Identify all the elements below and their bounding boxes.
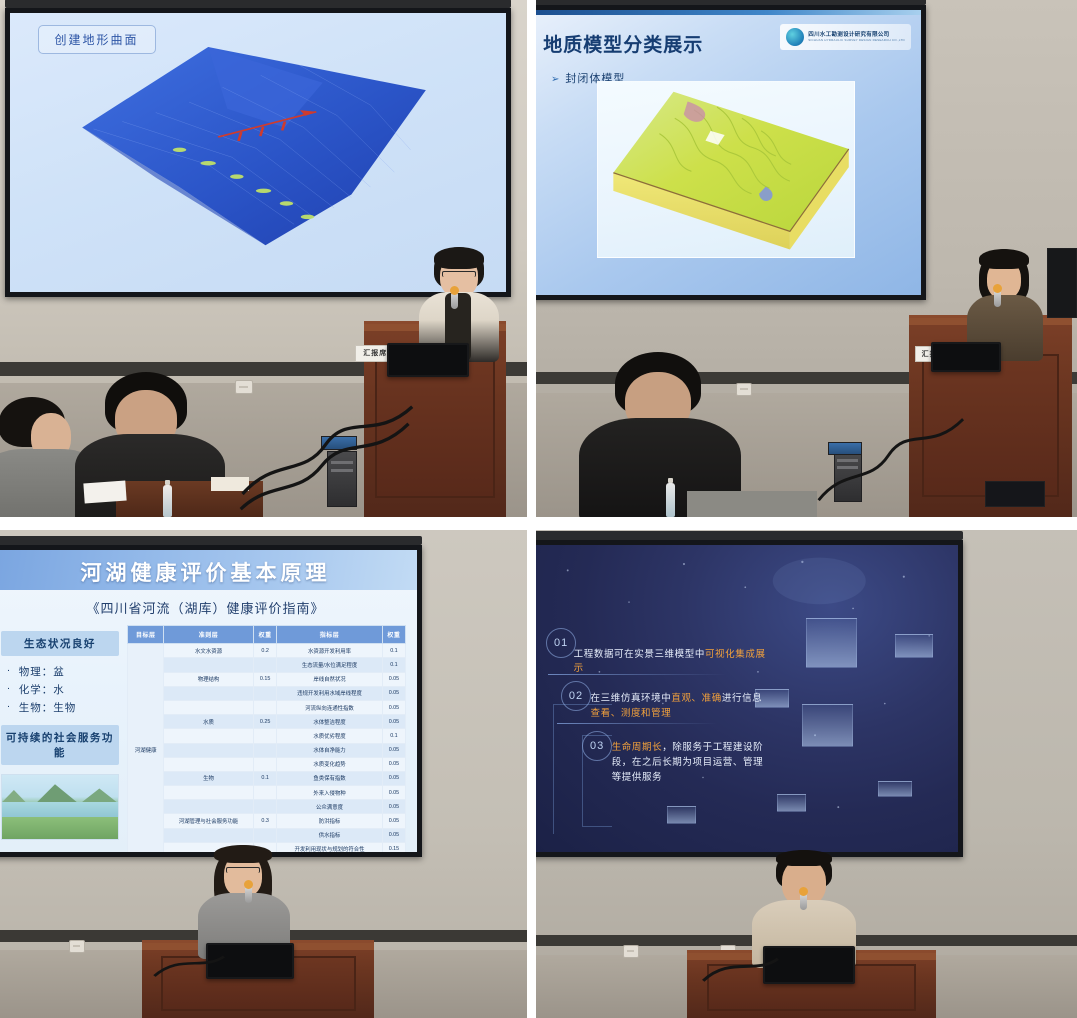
bullet-label: 生物：生物 (19, 700, 77, 715)
caret-right-icon: ➢ (551, 74, 560, 85)
cell-criterion: 水质 (163, 715, 253, 729)
laptop-screen (389, 345, 467, 375)
cell-indicator: 水质变化趋势 (277, 757, 383, 771)
step-text-03: 生命周期长，除服务于工程建设阶段，在之后长期为项目运营、管理等提供服务 (612, 741, 764, 785)
screen-roller-bar (536, 0, 926, 5)
water-bottle (666, 483, 675, 517)
projection-screen: 01 工程数据可在实景三维模型中可视化集成展示 02 在三维仿真环境中直观、准确… (536, 540, 963, 857)
company-logo-mark-icon (786, 28, 804, 46)
health-table-body: 河湖健康水文水资源0.2水资源开发利用率0.1生态流量/水位满足程度0.1物理结… (128, 644, 406, 852)
presenter-glasses-icon (442, 271, 476, 277)
cell-indicator-weight: 0.05 (382, 814, 405, 828)
model-canvas (597, 81, 855, 258)
lake-landscape-photo (1, 774, 119, 840)
screen-roller-bar (0, 536, 422, 545)
presenter-glasses-icon (226, 867, 260, 873)
cell-criterion (163, 757, 253, 771)
wall-outlet-icon (623, 945, 639, 958)
cell-indicator-weight: 0.15 (382, 842, 405, 852)
cell-indicator-weight: 0.1 (382, 658, 405, 672)
panel-top-left: 创建地形曲面 (0, 0, 536, 530)
cell-criterion-weight (254, 757, 277, 771)
cell-criterion-weight: 0.1 (254, 771, 277, 785)
company-logo-text: 四川水工勘测设计研究有限公司 SICHUAN HYDRAULIC SURVEY … (808, 33, 905, 42)
closed-body-3d-model (598, 82, 854, 257)
photo-geology-model-presentation: 地质模型分类展示 ➢封闭体模型 四川水工勘测设计研究有限公司 SICHUAN H… (536, 0, 1077, 517)
list-item: ·化学：水 (7, 682, 119, 697)
cell-indicator-weight: 0.05 (382, 786, 405, 800)
table-row: 生态流量/水位满足程度0.1 (128, 658, 406, 672)
table-row: 水质优劣程度0.1 (128, 729, 406, 743)
chip-ecological-status: 生态状况良好 (1, 631, 119, 656)
bullet-label: 物理：盆 (19, 664, 65, 679)
monitor-on-desk (985, 481, 1045, 507)
step-number-03: 03 (582, 731, 612, 761)
cell-indicator: 水资源开发利用率 (277, 644, 383, 658)
presenter-fringe (776, 850, 832, 866)
table-row: 河湖管理与社会服务功能0.3防洪指标0.05 (128, 814, 406, 828)
presenter-laptop (387, 343, 469, 377)
cell-criterion-weight (254, 743, 277, 757)
presenter-laptop (931, 342, 1001, 372)
cell-indicator: 水体整洁程度 (277, 715, 383, 729)
microphone-icon (994, 289, 1001, 307)
table-row: 水质0.25水体整洁程度0.05 (128, 715, 406, 729)
cell-criterion-weight (254, 686, 277, 700)
table-row: 水质变化趋势0.05 (128, 757, 406, 771)
cell-criterion (163, 729, 253, 743)
cell-criterion: 物理结构 (163, 672, 253, 686)
wall-outlet-icon (736, 383, 752, 396)
microphone-icon (800, 892, 807, 910)
table-row: 水体自净能力0.05 (128, 743, 406, 757)
cell-indicator-weight: 0.1 (382, 644, 405, 658)
cell-indicator-weight: 0.05 (382, 771, 405, 785)
projection-screen: 地质模型分类展示 ➢封闭体模型 四川水工勘测设计研究有限公司 SICHUAN H… (536, 5, 926, 300)
floating-card (802, 704, 853, 747)
cell-criterion (163, 686, 253, 700)
photo-terrain-surface-presentation: 创建地形曲面 (0, 0, 527, 517)
step-02-highlight2: 查看、测度和管理 (591, 708, 672, 719)
cell-criterion: 生物 (163, 771, 253, 785)
podium-cables (687, 950, 784, 994)
col-indicator: 指标层 (277, 626, 383, 644)
step-02-plain2: 进行信息 (722, 693, 762, 704)
company-name-en: SICHUAN HYDRAULIC SURVEY DESIGN RESEARCH… (808, 39, 905, 42)
cell-indicator: 开发利用现状与规划的符合性 (277, 842, 383, 852)
cell-criterion-weight: 0.2 (254, 644, 277, 658)
cell-indicator: 生态流量/水位满足程度 (277, 658, 383, 672)
cell-criterion (163, 786, 253, 800)
cell-indicator: 鱼类保有指数 (277, 771, 383, 785)
panel-top-right: 地质模型分类展示 ➢封闭体模型 四川水工勘测设计研究有限公司 SICHUAN H… (536, 0, 1077, 530)
step-number-01: 01 (546, 628, 576, 658)
step-03-highlight: 生命周期长 (612, 742, 663, 753)
bullet-dot-icon: · (7, 700, 11, 715)
table-row: 违规开发利用水域岸线程度0.05 (128, 686, 406, 700)
table-row: 公众满意度0.05 (128, 800, 406, 814)
list-item: ·物理：盆 (7, 664, 119, 679)
cell-indicator-weight: 0.05 (382, 743, 405, 757)
table-row: 物理结构0.15岸线自然状况0.05 (128, 672, 406, 686)
wall-outlet-icon (69, 940, 85, 953)
cell-criterion-weight: 0.3 (254, 814, 277, 828)
presenter-fringe (434, 247, 484, 269)
presenter-person (963, 249, 1045, 357)
screen-roller-bar (536, 531, 963, 540)
cell-indicator-weight: 0.05 (382, 715, 405, 729)
water-bottle (163, 485, 172, 517)
cell-indicator-weight: 0.05 (382, 700, 405, 714)
slide-header-rule (536, 10, 921, 15)
screen-surface: 01 工程数据可在实景三维模型中可视化集成展示 02 在三维仿真环境中直观、准确… (536, 545, 958, 852)
photo-bim-value-presentation: 01 工程数据可在实景三维模型中可视化集成展示 02 在三维仿真环境中直观、准确… (536, 530, 1077, 1018)
cell-indicator: 岸线自然状况 (277, 672, 383, 686)
table-row: 外来入侵物种0.05 (128, 786, 406, 800)
left-bullet-list: ·物理：盆 ·化学：水 ·生物：生物 (7, 664, 119, 715)
screen-roller-bar (5, 0, 511, 8)
cell-criterion (163, 700, 253, 714)
cell-indicator: 水体自净能力 (277, 743, 383, 757)
step-text-01: 工程数据可在实景三维模型中可视化集成展示 (574, 648, 768, 677)
col-goal: 目标层 (128, 626, 164, 644)
list-item: ·生物：生物 (7, 700, 119, 715)
slide-bim-value: 01 工程数据可在实景三维模型中可视化集成展示 02 在三维仿真环境中直观、准确… (536, 545, 958, 852)
presenter-fringe (214, 845, 272, 863)
presenter-person (200, 845, 286, 955)
cell-indicator-weight: 0.05 (382, 686, 405, 700)
table-row: 河流纵向连通性指数0.05 (128, 700, 406, 714)
cell-indicator: 公众满意度 (277, 800, 383, 814)
step-01-plain: 工程数据可在实景三维模型中 (574, 649, 705, 660)
cell-indicator-weight: 0.05 (382, 828, 405, 842)
photo-collage-grid: 创建地形曲面 (0, 0, 1077, 1018)
cell-indicator: 河流纵向连通性指数 (277, 700, 383, 714)
cell-indicator: 违规开发利用水域岸线程度 (277, 686, 383, 700)
cell-indicator: 供水指标 (277, 828, 383, 842)
slide-river-health: 河湖健康评价基本原理 《四川省河流（湖库）健康评价指南》 生态状况良好 ·物理：… (0, 550, 417, 852)
floor-cables (817, 414, 979, 517)
bullet-dot-icon: · (7, 682, 11, 697)
foreground-trees (2, 817, 118, 839)
presenter-fringe (979, 249, 1029, 269)
floating-card (878, 781, 912, 796)
slide-left-column: 生态状况良好 ·物理：盆 ·化学：水 ·生物：生物 可持续的社会服务功能 (1, 631, 119, 840)
microphone-icon (451, 291, 458, 309)
divider-rule (548, 674, 726, 675)
cell-criterion: 河湖管理与社会服务功能 (163, 814, 253, 828)
cell-indicator: 防洪指标 (277, 814, 383, 828)
cell-criterion-weight (254, 729, 277, 743)
presenter-person (417, 247, 501, 357)
cell-criterion (163, 658, 253, 672)
floor-cables (237, 403, 421, 517)
side-monitor (1047, 248, 1077, 318)
cell-indicator-weight: 0.05 (382, 672, 405, 686)
floating-card (895, 634, 933, 659)
cell-goal: 河湖健康 (128, 644, 164, 852)
cell-criterion (163, 800, 253, 814)
cell-criterion-weight (254, 786, 277, 800)
cell-criterion-weight: 0.15 (254, 672, 277, 686)
red-section-line-annotation (214, 102, 323, 147)
slide-subtitle: 《四川省河流（湖库）健康评价指南》 (0, 598, 417, 617)
floating-card (777, 794, 807, 812)
cell-criterion (163, 828, 253, 842)
col-criterion-weight: 权重 (254, 626, 277, 644)
floating-card (667, 806, 697, 824)
bullet-label: 化学：水 (19, 682, 65, 697)
cell-indicator: 水质优劣程度 (277, 729, 383, 743)
step-02-plain: 在三维仿真环境中 (591, 693, 672, 704)
photo-river-lake-health-presentation: 河湖健康评价基本原理 《四川省河流（湖库）健康评价指南》 生态状况良好 ·物理：… (0, 530, 527, 1018)
cell-criterion-weight (254, 700, 277, 714)
col-criterion: 准则层 (163, 626, 253, 644)
cell-criterion-weight (254, 800, 277, 814)
cell-indicator: 外来入侵物种 (277, 786, 383, 800)
cell-indicator-weight: 0.1 (382, 729, 405, 743)
audience-paper (84, 480, 127, 503)
cell-indicator-weight: 0.05 (382, 800, 405, 814)
audience-desk (687, 491, 817, 517)
projection-screen: 河湖健康评价基本原理 《四川省河流（湖库）健康评价指南》 生态状况良好 ·物理：… (0, 545, 422, 857)
slide-title: 地质模型分类展示 (543, 30, 703, 57)
screen-surface: 地质模型分类展示 ➢封闭体模型 四川水工勘测设计研究有限公司 SICHUAN H… (536, 10, 921, 295)
cell-criterion-weight: 0.25 (254, 715, 277, 729)
panel-bottom-left: 河湖健康评价基本原理 《四川省河流（湖库）健康评价指南》 生态状况良好 ·物理：… (0, 530, 536, 1018)
col-indicator-weight: 权重 (382, 626, 405, 644)
screen-surface: 河湖健康评价基本原理 《四川省河流（湖库）健康评价指南》 生态状况良好 ·物理：… (0, 550, 417, 852)
cell-indicator-weight: 0.05 (382, 757, 405, 771)
table-row: 供水指标0.05 (128, 828, 406, 842)
cell-criterion (163, 743, 253, 757)
table-row: 生物0.1鱼类保有指数0.05 (128, 771, 406, 785)
podium-cables (137, 950, 232, 989)
panel-bottom-right: 01 工程数据可在实景三维模型中可视化集成展示 02 在三维仿真环境中直观、准确… (536, 530, 1077, 1018)
chip-social-service: 可持续的社会服务功能 (1, 725, 119, 765)
floating-card (806, 618, 857, 667)
health-evaluation-table: 目标层 准则层 权重 指标层 权重 河湖健康水文水资源0.2水资源开发利用率0.… (127, 625, 406, 852)
cell-criterion-weight (254, 658, 277, 672)
step-02-highlight: 直观、准确 (671, 693, 722, 704)
cell-criterion-weight (254, 828, 277, 842)
table-header-row: 目标层 准则层 权重 指标层 权重 (128, 626, 406, 644)
terrain-3d-mesh (65, 38, 447, 262)
laptop-screen (933, 344, 999, 370)
microphone-icon (245, 885, 252, 903)
divider-rule (557, 723, 718, 724)
slide-title: 河湖健康评价基本原理 (0, 557, 417, 587)
step-text-02: 在三维仿真环境中直观、准确进行信息查看、测度和管理 (591, 692, 764, 721)
wall-outlet-icon (235, 380, 253, 394)
slide-geology-model: 地质模型分类展示 ➢封闭体模型 四川水工勘测设计研究有限公司 SICHUAN H… (536, 10, 921, 295)
cell-criterion: 水文水资源 (163, 644, 253, 658)
company-logo: 四川水工勘测设计研究有限公司 SICHUAN HYDRAULIC SURVEY … (780, 24, 911, 50)
lake-water (2, 802, 118, 819)
table-row: 河湖健康水文水资源0.2水资源开发利用率0.1 (128, 644, 406, 658)
bullet-dot-icon: · (7, 664, 11, 679)
